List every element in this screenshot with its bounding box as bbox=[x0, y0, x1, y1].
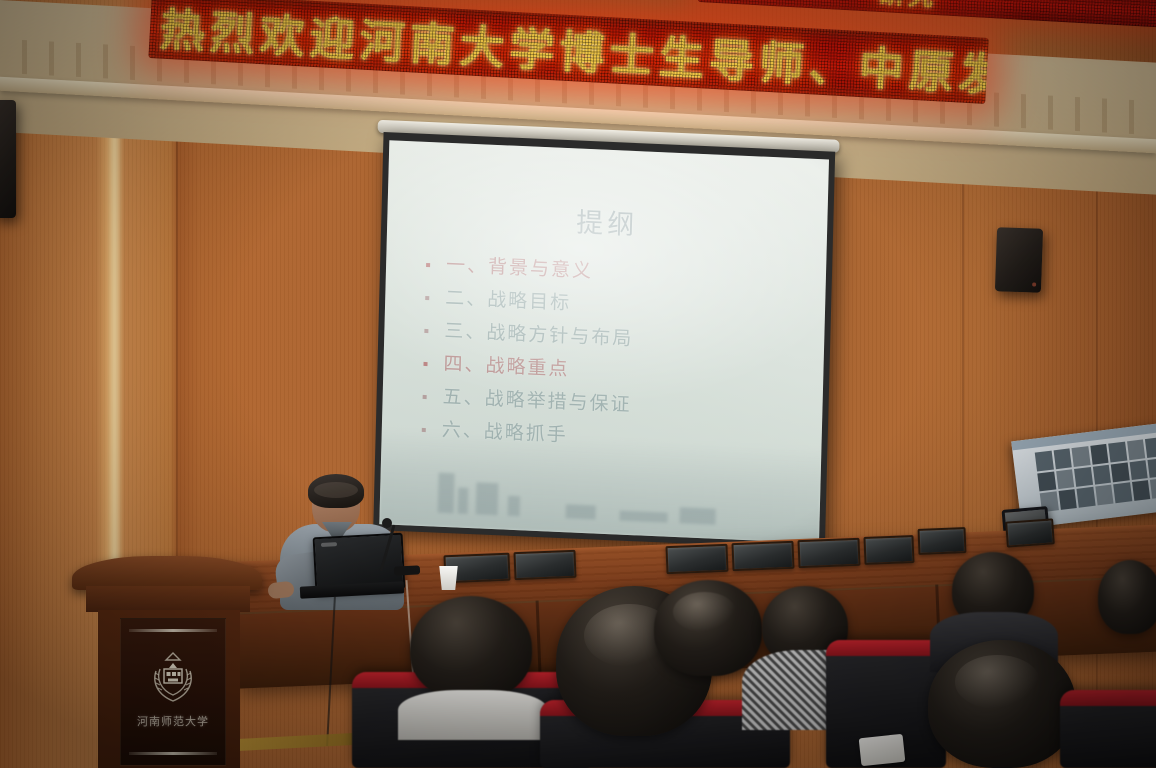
podium: 河南师范大学 bbox=[84, 556, 252, 768]
audience-head bbox=[654, 580, 762, 676]
slide-bullet-list: 一、背景与意义 二、战略目标 三、战略方针与布局 四、战略重点 五、战略举措与保… bbox=[415, 248, 800, 463]
wall-speaker-left-icon bbox=[0, 100, 16, 218]
desk-monitor bbox=[731, 541, 794, 571]
podium-top-cap bbox=[72, 556, 262, 590]
audience-seat bbox=[1060, 690, 1156, 768]
podium-neck bbox=[86, 586, 250, 612]
plaque-top-line bbox=[129, 629, 217, 632]
board-photo-grid bbox=[1035, 437, 1156, 512]
screen-surface: 提纲 一、背景与意义 二、战略目标 三、战略方针与布局 四、战略重点 五、战略举… bbox=[379, 140, 829, 543]
audience-shoulders bbox=[398, 690, 548, 740]
slide-title: 提纲 bbox=[387, 192, 828, 250]
audience-head bbox=[1098, 560, 1156, 634]
podium-plaque: 河南师范大学 bbox=[120, 618, 226, 766]
microphone-head-icon bbox=[382, 518, 392, 528]
podium-institution-name: 河南师范大学 bbox=[121, 713, 225, 729]
handheld-white-device bbox=[859, 734, 906, 766]
audience-head bbox=[928, 640, 1076, 768]
audience-head bbox=[410, 596, 532, 700]
podium-body: 河南师范大学 bbox=[98, 610, 240, 768]
desk-monitor bbox=[917, 527, 966, 555]
desk-monitor bbox=[513, 550, 576, 580]
microphone-base bbox=[394, 565, 420, 575]
speaker-led-indicator bbox=[1032, 282, 1036, 286]
desk-monitor bbox=[863, 535, 914, 565]
seat-headrest bbox=[1060, 690, 1156, 706]
led-banner-secondary-text: 研究 bbox=[878, 0, 938, 14]
presenter-hair bbox=[308, 474, 364, 508]
lecture-hall-photo: 研究 热烈欢迎河南大学博士生导师、中原发展 提纲 bbox=[0, 0, 1156, 768]
desk-monitor bbox=[1005, 518, 1055, 547]
university-crest-icon bbox=[142, 649, 204, 707]
laptop-logo bbox=[321, 542, 337, 547]
desk-monitor bbox=[665, 544, 728, 574]
plaque-bottom-line bbox=[129, 752, 217, 755]
seat-headrest bbox=[826, 640, 946, 656]
projection-screen: 提纲 一、背景与意义 二、战略目标 三、战略方针与布局 四、战略重点 五、战略举… bbox=[373, 132, 845, 564]
screen-frame: 提纲 一、背景与意义 二、战略目标 三、战略方针与布局 四、战略重点 五、战略举… bbox=[373, 132, 835, 550]
desk-monitor bbox=[797, 538, 860, 568]
wall-speaker-right-icon bbox=[995, 227, 1043, 293]
